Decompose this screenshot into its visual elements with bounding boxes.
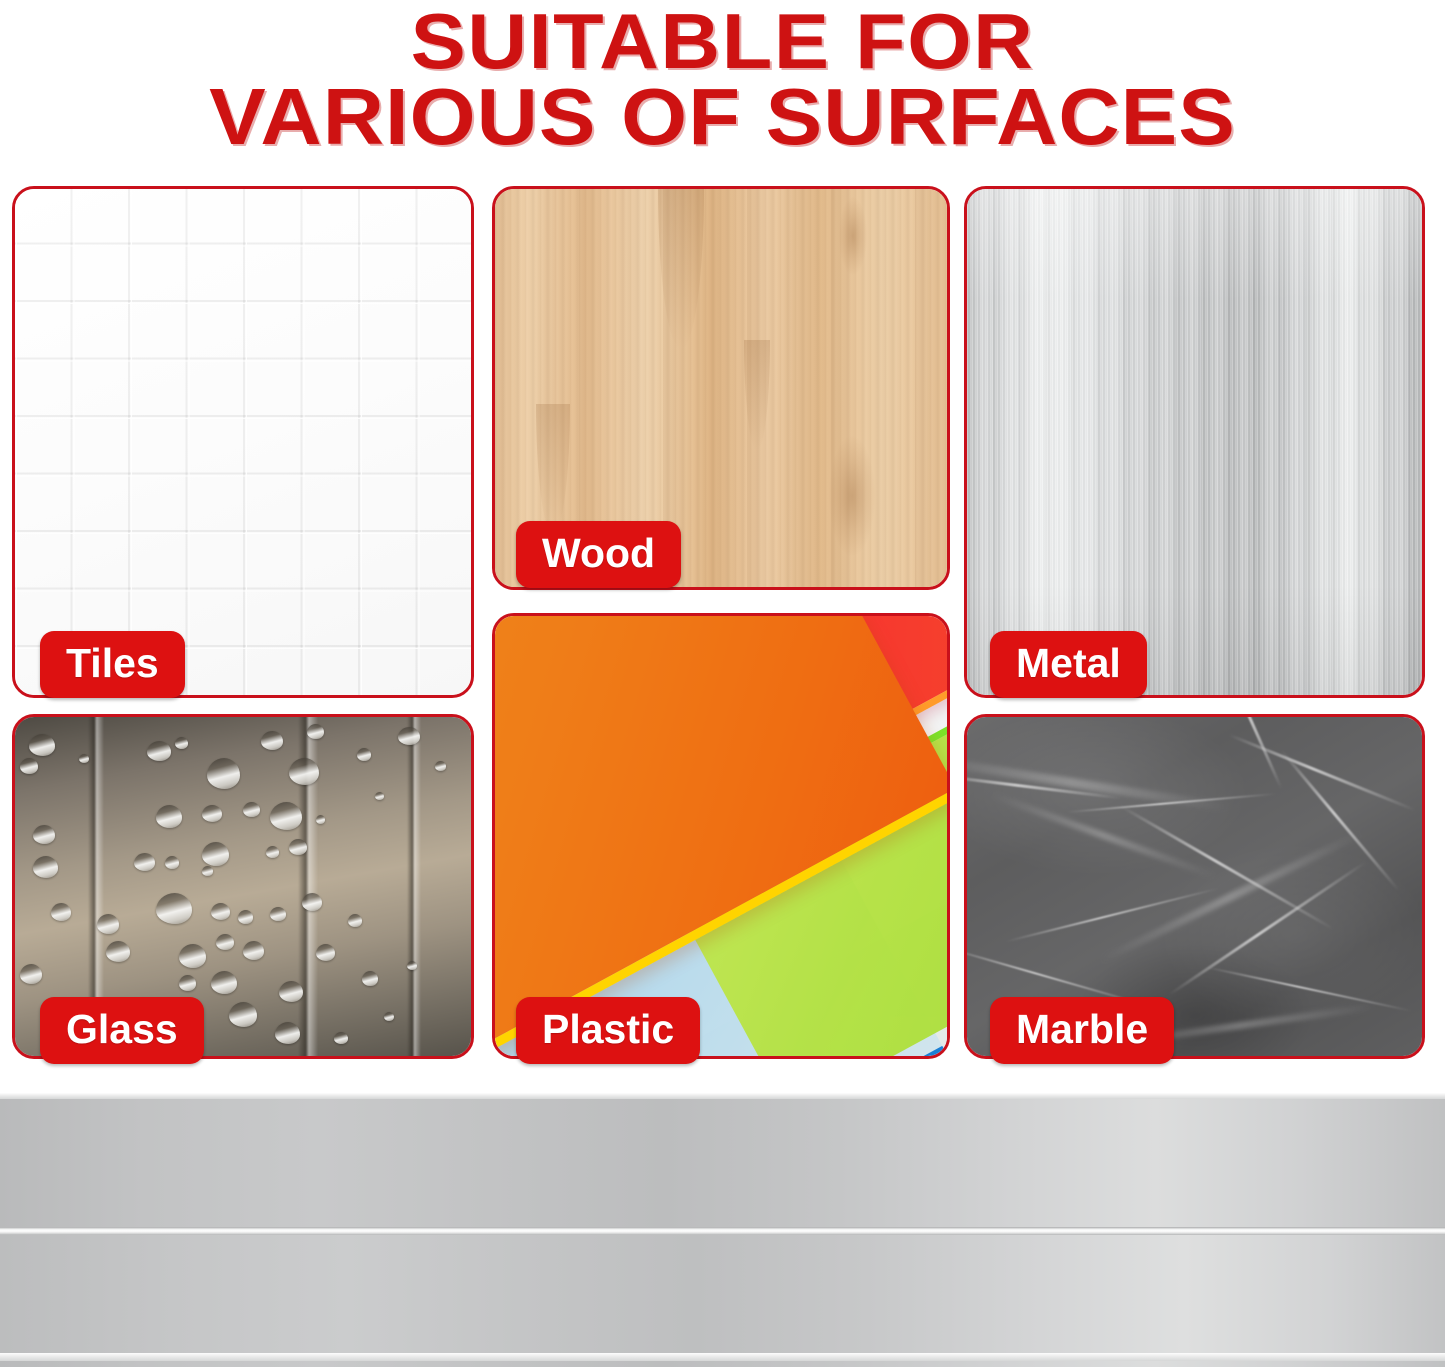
water-droplet [211,971,237,994]
water-droplet [302,893,322,911]
water-droplet [289,758,319,785]
water-droplet [362,971,378,986]
wood-grain-mark [658,189,704,349]
water-droplet [202,842,229,866]
marble-vein [1119,805,1333,930]
product-surface-band [0,1093,1445,1367]
water-droplet [229,1002,257,1027]
water-droplet [29,734,55,756]
wood-grain-mark [536,404,570,534]
water-droplet [289,839,307,855]
surface-card-metal[interactable] [964,186,1425,698]
water-droplet [147,741,171,761]
band-bottom-edge [0,1353,1445,1361]
water-droplet [334,1032,348,1044]
water-droplet [238,910,253,924]
water-droplet [357,748,371,761]
water-droplet [398,727,420,745]
metal-texture [967,189,1422,695]
water-droplet [207,758,240,789]
water-droplet [202,866,213,876]
tiles-texture [15,189,471,695]
surface-card-plastic[interactable] [492,613,950,1059]
headline-line-2: VARIOUS OF SURFACES [0,79,1445,156]
water-droplet [33,825,55,844]
wood-grain-mark [744,340,770,450]
water-droplet [275,1022,300,1044]
water-droplet [156,893,192,924]
water-droplet [316,944,335,961]
water-droplet [307,724,324,739]
water-droplet [384,1012,394,1021]
water-droplet [375,792,384,800]
plastic-texture [495,616,947,1056]
water-droplet [270,907,286,921]
surface-label-tiles: Tiles [40,631,185,698]
water-droplet [79,754,89,763]
water-droplet [106,941,130,962]
water-streak [407,714,421,1059]
water-droplet [407,961,417,970]
water-droplet [175,737,188,749]
water-droplet [156,805,182,828]
water-droplet [266,846,279,858]
water-droplet [348,914,362,927]
marble-vein [1280,750,1399,891]
water-droplet [20,758,38,774]
water-droplet [270,802,302,830]
infographic-root: SUITABLE FOR VARIOUS OF SURFACES Tiles W… [0,0,1445,1367]
band-face-lower [0,1235,1445,1353]
band-foot [0,1361,1445,1367]
water-droplet [51,903,71,921]
water-droplet [134,853,155,871]
water-droplet [243,802,260,817]
surface-card-tiles[interactable] [12,186,474,698]
wood-knot-icon [839,197,867,275]
water-droplet [243,941,264,960]
water-droplet [202,805,222,822]
surface-label-wood: Wood [516,521,681,588]
water-droplet [316,815,325,824]
water-droplet [97,914,119,934]
water-droplet [216,934,234,950]
water-droplet [165,856,179,869]
water-droplet [179,944,206,968]
band-groove [0,1227,1445,1235]
headline-line-1: SUITABLE FOR [0,4,1445,79]
water-droplet [179,975,196,991]
water-droplet [20,964,42,984]
marble-vein [991,792,1216,879]
water-droplet [211,903,230,920]
surface-label-marble: Marble [990,997,1174,1064]
surface-label-metal: Metal [990,631,1147,698]
water-droplet [261,731,283,750]
headline: SUITABLE FOR VARIOUS OF SURFACES [0,0,1445,156]
band-face-upper [0,1099,1445,1227]
surface-label-glass: Glass [40,997,204,1064]
surface-label-plastic: Plastic [516,997,700,1064]
wood-knot-icon [829,436,875,556]
water-droplet [435,761,446,771]
marble-vein [1206,966,1411,1011]
water-droplet [33,856,58,878]
